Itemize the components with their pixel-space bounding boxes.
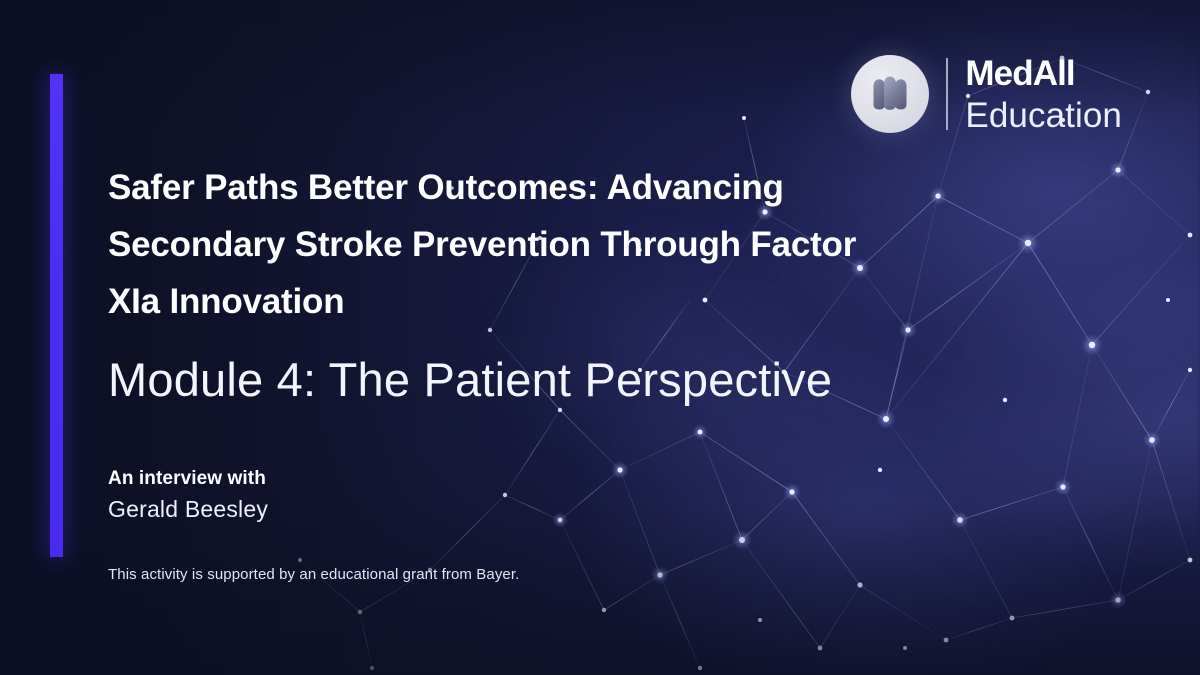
brand-divider bbox=[946, 58, 948, 130]
funding-disclaimer: This activity is supported by an educati… bbox=[108, 566, 519, 583]
credit-lead-label: An interview with bbox=[108, 466, 268, 492]
content-block: Safer Paths Better Outcomes: Advancing S… bbox=[108, 0, 938, 675]
speaker-credit: An interview with Gerald Beesley bbox=[108, 466, 268, 524]
speaker-name: Gerald Beesley bbox=[108, 494, 268, 524]
module-subtitle: Module 4: The Patient Perspective bbox=[108, 352, 1008, 407]
page-title: Safer Paths Better Outcomes: Advancing S… bbox=[108, 159, 908, 330]
accent-bar bbox=[50, 74, 63, 557]
title-slide: MedAll Education Safer Paths Better Outc… bbox=[0, 0, 1200, 675]
brand-name: MedAll bbox=[965, 56, 1122, 91]
brand-text: MedAll Education bbox=[965, 56, 1122, 133]
brand-subtitle: Education bbox=[965, 98, 1122, 133]
